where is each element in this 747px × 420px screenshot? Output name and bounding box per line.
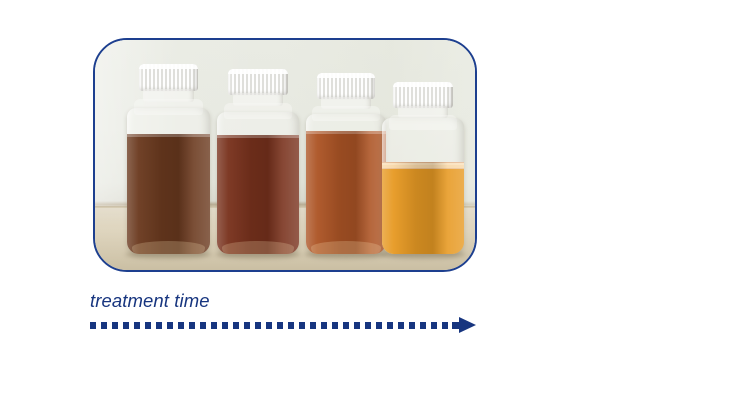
bottle-2-cap-top [228,69,287,74]
arrow-head-icon [459,317,476,333]
bottle-4-liquid-highlight [382,162,464,254]
bottle-1-liquid-highlight [127,134,210,254]
bottle-1 [127,64,210,254]
bottle-1-cap [139,64,199,91]
bottle-1-liquid [127,134,210,254]
bottle-3-liquid [306,131,386,254]
bottle-4 [382,73,464,254]
bottle-2-body [217,112,299,254]
bottle-2-sediment [222,241,294,254]
bottle-4-body [382,118,464,254]
bottle-2 [217,66,299,254]
bottle-3-cap [317,73,375,99]
bottle-1-sediment [132,241,205,254]
bottle-1-body [127,108,210,254]
bottle-2-liquid-highlight [217,135,299,254]
bottle-1-cap-top [139,64,199,69]
arrow-dashes [90,322,452,329]
bottle-3-cap-top [317,73,375,78]
photo-scene [95,40,475,270]
bottle-4-cap-top [393,82,452,87]
bottle-2-cap [228,69,287,95]
bottle-4-cap [393,82,452,108]
treatment-time-caption-group: treatment time [90,290,510,334]
treatment-time-arrow [90,318,490,334]
bottle-3-sediment [311,241,381,254]
bottle-3-liquid-highlight [306,131,386,254]
bottle-3 [306,68,386,254]
bottle-4-liquid [382,162,464,254]
bottle-2-liquid [217,135,299,254]
photo-frame [93,38,477,272]
treatment-time-label: treatment time [90,290,510,312]
bottle-3-body [306,114,386,254]
